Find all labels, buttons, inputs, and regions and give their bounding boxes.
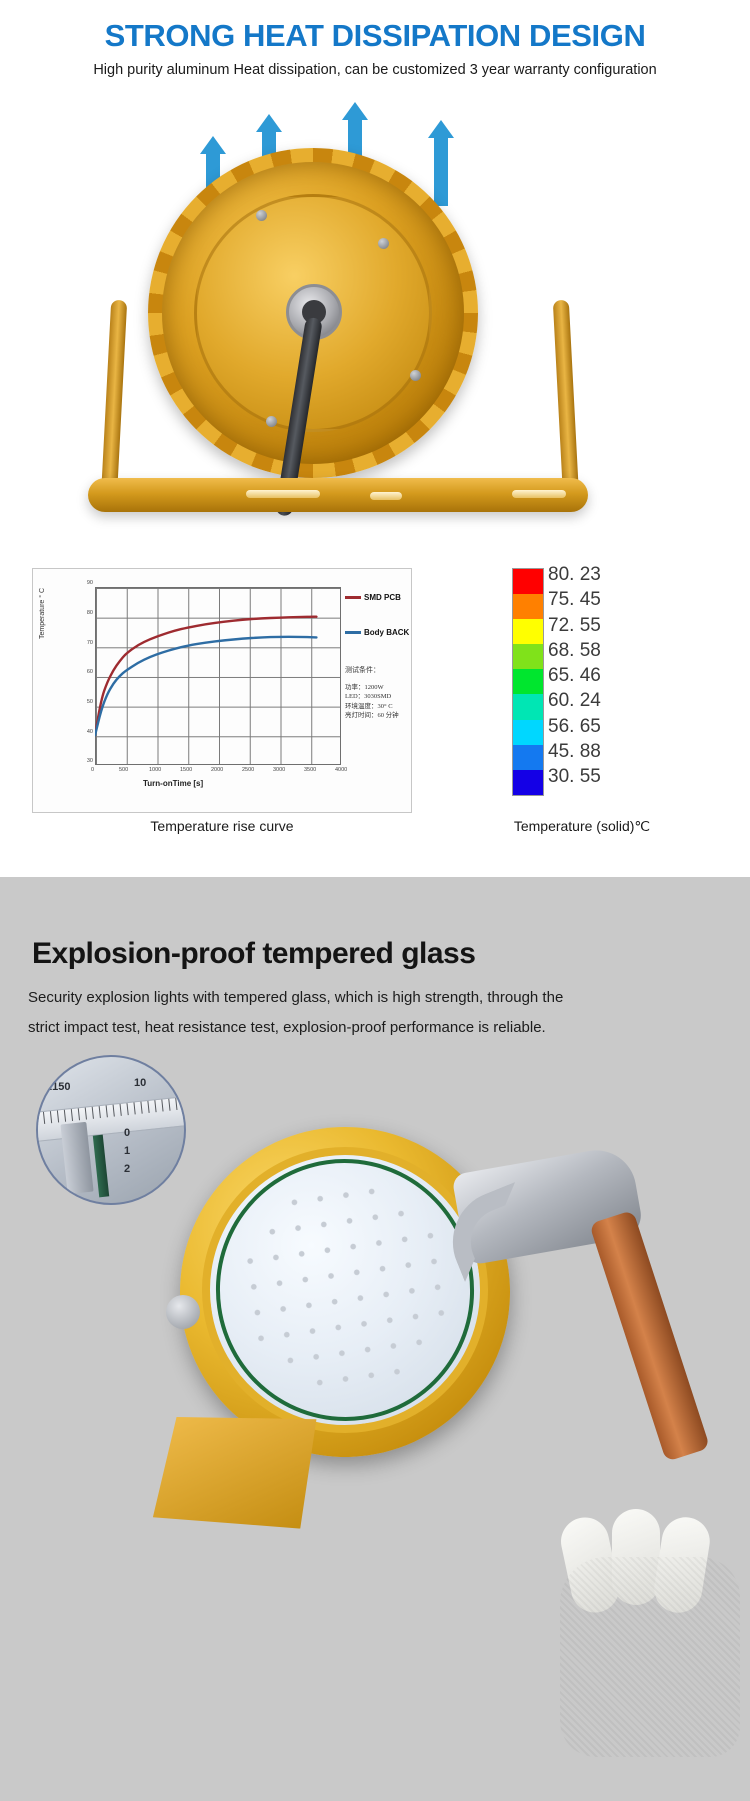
- section2-paragraph-2: strict impact test, heat resistance test…: [28, 1019, 718, 1036]
- glove-palm: [560, 1557, 740, 1757]
- y-tick: 70: [87, 640, 93, 646]
- thermal-scale-band: [513, 619, 543, 644]
- legend-swatch: [345, 596, 361, 599]
- product-detail-page: STRONG HEAT DISSIPATION DESIGN High puri…: [0, 0, 750, 1801]
- mounting-slot: [370, 492, 402, 500]
- thermal-scale-value: 75. 45: [548, 587, 658, 612]
- test-condition-line: 功率：1200W: [345, 683, 425, 692]
- mount-bracket-left: [101, 300, 127, 501]
- legend-swatch: [345, 631, 361, 634]
- y-tick: 90: [87, 580, 93, 586]
- caliper-label: 0: [124, 1127, 130, 1139]
- legend-item: SMD PCB: [345, 593, 415, 602]
- y-tick: 30: [87, 758, 93, 764]
- thermal-scale-band: [513, 745, 543, 770]
- chart-curves: [95, 587, 341, 765]
- screw-icon: [378, 238, 389, 249]
- legend-label: Body BACK: [364, 628, 409, 637]
- caliper-label: 1: [124, 1145, 130, 1157]
- thermal-scale-band: [513, 644, 543, 669]
- thermal-scale-value: 45. 88: [548, 739, 658, 764]
- caliper-label: 2150: [46, 1081, 70, 1093]
- x-tick: 0: [91, 767, 94, 773]
- thermal-scale-value: 72. 55: [548, 613, 658, 638]
- section2-paragraph-1: Security explosion lights with tempered …: [28, 989, 718, 1006]
- test-conditions-title: 测试条件：: [345, 665, 425, 675]
- mount-bracket-right: [553, 300, 579, 501]
- tempered-glass-section: Explosion-proof tempered glass Security …: [0, 877, 750, 1801]
- thermal-scale-value: 60. 24: [548, 688, 658, 713]
- heat-dissipation-section: STRONG HEAT DISSIPATION DESIGN High puri…: [0, 0, 750, 877]
- test-condition-line: LED：3030SMD: [345, 692, 425, 701]
- caliper-label: 10: [134, 1077, 146, 1089]
- x-tick: 3500: [304, 767, 316, 773]
- section1-title: STRONG HEAT DISSIPATION DESIGN: [0, 18, 750, 54]
- thermal-scale-value: 30. 55: [548, 764, 658, 789]
- screw-icon: [266, 416, 277, 427]
- x-tick: 1000: [149, 767, 161, 773]
- chart-and-scale-row: Temperature ° C 90 80 70 60 50 40 30 0: [0, 560, 750, 860]
- y-tick: 50: [87, 699, 93, 705]
- lamp-back-photo: [0, 88, 750, 543]
- mounting-slot: [246, 490, 320, 498]
- x-tick: 500: [119, 767, 128, 773]
- gloved-hand: [560, 1517, 750, 1801]
- thermal-scale-value: 65. 46: [548, 663, 658, 688]
- thermal-scale-value: 80. 23: [548, 562, 658, 587]
- thermal-scale-values: 80. 2375. 4572. 5568. 5865. 4660. 2456. …: [548, 562, 658, 790]
- hammer-icon: [448, 1159, 728, 1489]
- x-tick: 3000: [273, 767, 285, 773]
- mounting-slot: [512, 490, 566, 498]
- chart-x-ticks: 0 500 1000 1500 2000 2500 3000 3500 4000: [87, 767, 357, 779]
- thermal-scale-band: [513, 569, 543, 594]
- lamp-assembly: [78, 148, 672, 543]
- x-tick: 2000: [211, 767, 223, 773]
- test-condition-line: 亮灯时间：60 分钟: [345, 711, 425, 720]
- thermal-scale-value: 68. 58: [548, 638, 658, 663]
- screw-icon: [256, 210, 267, 221]
- thermal-color-scale: [512, 568, 552, 796]
- chart-legend: SMD PCB Body BACK: [345, 593, 415, 663]
- section1-subtitle: High purity aluminum Heat dissipation, c…: [0, 62, 750, 78]
- chart-y-ticks: 90 80 70 60 50 40 30: [73, 583, 93, 769]
- thermal-scale-band: [513, 669, 543, 694]
- chart-caption: Temperature rise curve: [32, 818, 412, 834]
- thermal-scale-caption: Temperature (solid)℃: [432, 818, 732, 835]
- cable-entry-knob: [166, 1295, 200, 1329]
- legend-label: SMD PCB: [364, 593, 401, 602]
- thermal-scale-bar: [512, 568, 544, 796]
- glass-edge-sample: [93, 1135, 109, 1198]
- test-condition-line: 环境温度：30° C: [345, 702, 425, 711]
- x-tick: 4000: [335, 767, 347, 773]
- x-tick: 1500: [180, 767, 192, 773]
- thermal-scale-band: [513, 694, 543, 719]
- hammer-handle: [589, 1210, 710, 1462]
- thermal-scale-band: [513, 594, 543, 619]
- thermal-scale-band: [513, 720, 543, 745]
- legend-item: Body BACK: [345, 628, 415, 637]
- base-bar: [88, 478, 588, 512]
- chart-x-axis-label: Turn-onTime [s]: [143, 779, 203, 788]
- tempered-glass-photo: 2150 10 0 1 2: [0, 1047, 750, 1801]
- mounting-foot: [146, 1407, 324, 1539]
- y-tick: 40: [87, 729, 93, 735]
- thermal-scale-value: 56. 65: [548, 714, 658, 739]
- chart-y-axis-label: Temperature ° C: [39, 588, 46, 639]
- temperature-rise-chart: Temperature ° C 90 80 70 60 50 40 30 0: [32, 568, 412, 813]
- section2-title: Explosion-proof tempered glass: [32, 937, 475, 971]
- test-conditions: 测试条件： 功率：1200W LED：3030SMD 环境温度：30° C 亮灯…: [345, 665, 425, 721]
- thermal-scale-band: [513, 770, 543, 795]
- y-tick: 60: [87, 669, 93, 675]
- x-tick: 2500: [242, 767, 254, 773]
- y-tick: 80: [87, 610, 93, 616]
- screw-icon: [410, 370, 421, 381]
- caliper-label: 2: [124, 1163, 130, 1175]
